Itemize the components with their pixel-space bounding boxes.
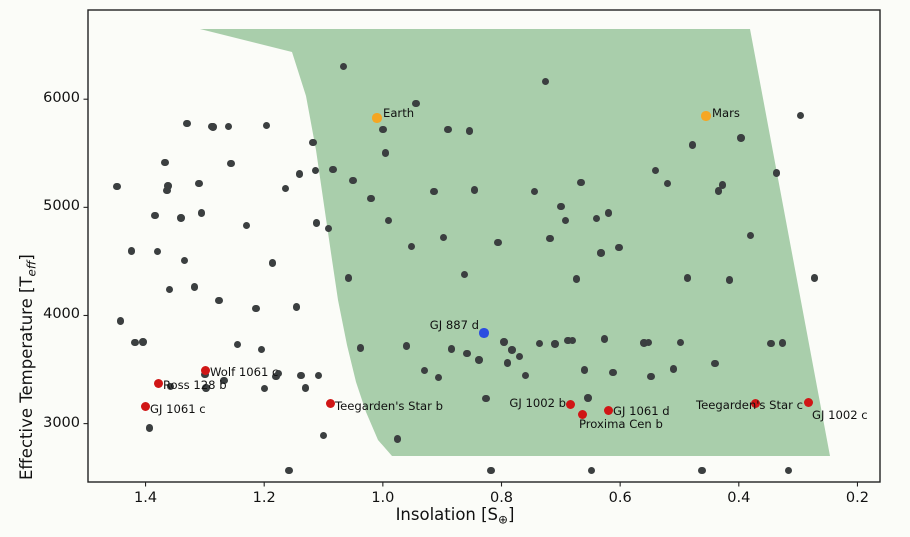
y-tick-label: 3000 — [34, 415, 80, 431]
y-axis-title: Effective Temperature [Teff] — [17, 254, 38, 480]
scatter-plot-figure: Wolf 1061 cRoss 128 bGJ 1061 cTeegarden'… — [0, 0, 910, 537]
y-tick-label-layer: 3000400050006000 — [0, 0, 910, 537]
y-tick-label: 4000 — [34, 306, 80, 322]
y-tick-label: 6000 — [34, 90, 80, 106]
y-tick-label: 5000 — [34, 198, 80, 214]
x-axis-title: Insolation [S⊕] — [0, 505, 910, 526]
